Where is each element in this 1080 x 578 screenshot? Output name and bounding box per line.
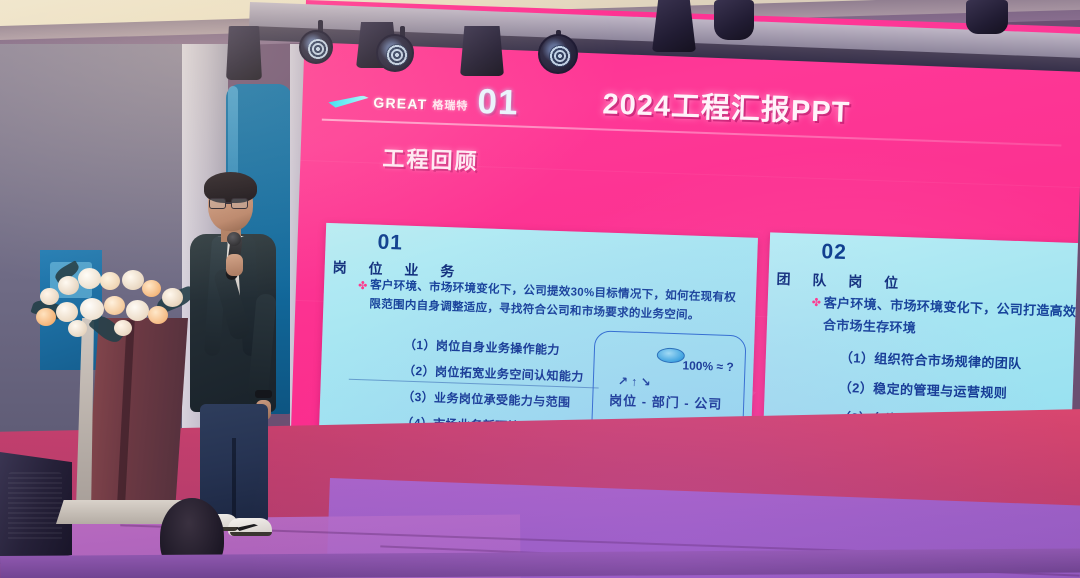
- company-logo: GREAT 格瑞特: [328, 93, 468, 114]
- swoosh-icon: [328, 94, 368, 108]
- par-lens-3: [549, 45, 571, 67]
- wristwatch-icon: [255, 390, 272, 398]
- moving-head-light-6: [226, 26, 262, 80]
- presenter-leg-split: [232, 438, 236, 522]
- moving-head-light-4: [714, 0, 754, 40]
- monitor-speaker-grille: [8, 472, 62, 542]
- slide-section-number: 01: [477, 82, 519, 123]
- slide-main-title: 2024工程汇报PPT: [602, 80, 851, 131]
- card-01-item-3: （3）业务岗位承受能力与范围: [402, 388, 571, 411]
- card-01-bullet-icon: ✤: [358, 279, 368, 292]
- card-02-item-1: （1）组织符合市场规律的团队: [840, 347, 1022, 372]
- card-02-item-2: （2）稳定的管理与运营规则: [839, 377, 1008, 402]
- glasses-icon-right: [231, 198, 248, 209]
- par-light-2: [376, 34, 414, 72]
- floral-arrangement: [30, 258, 202, 344]
- par-light-1: [299, 30, 333, 64]
- card-01-item-1: （1）岗位自身业务操作能力: [404, 336, 560, 358]
- diagram-percent-label: 100% ≈ ?: [682, 358, 734, 374]
- stage-photo-scene: 2024 汇报 GREAT 格瑞特 01 2024工程汇报PPT 工程回顾 01…: [0, 0, 1080, 578]
- slide-card-01: 01 岗 位 业 务 ✤ 客户环境、市场环境变化下，公司提效30%目标情况下，如…: [319, 223, 758, 450]
- moving-head-light-5: [966, 0, 1008, 34]
- par-light-3: [538, 34, 578, 74]
- ellipse-shape-icon: [657, 347, 686, 363]
- presenter-hand-holding-mic: [226, 254, 243, 276]
- card-02-number: 02: [821, 240, 847, 265]
- card-01-body: 客户环境、市场环境变化下，公司提效30%目标情况下，如何在现有权限范围内自身调整…: [369, 276, 742, 327]
- lectern-podium: [82, 318, 188, 508]
- moving-head-light-3: [652, 0, 696, 52]
- microphone-head-icon: [227, 232, 241, 246]
- logo-wordmark: GREAT: [373, 94, 427, 112]
- card-01-number: 01: [377, 231, 403, 256]
- presenter-person: [178, 176, 288, 546]
- par-lens-2: [386, 44, 408, 66]
- glasses-icon-left: [209, 198, 226, 209]
- slide-subtitle: 工程回顾: [382, 141, 479, 176]
- diagram-chain-label: 岗位 - 部门 - 公司: [609, 390, 723, 413]
- logo-chinese-name: 格瑞特: [432, 96, 469, 113]
- card-02-body: 客户环境、市场环境变化下，公司打造高效团队符合市场生存环境: [823, 292, 1080, 346]
- glasses-bridge: [226, 202, 232, 204]
- card-02-bullet-icon: ✤: [812, 296, 822, 309]
- card-02-heading: 团 队 岗 位: [776, 269, 907, 294]
- shoe-sole-right: [230, 532, 272, 536]
- par-lens-1: [308, 39, 328, 59]
- moving-head-light-2: [460, 26, 504, 76]
